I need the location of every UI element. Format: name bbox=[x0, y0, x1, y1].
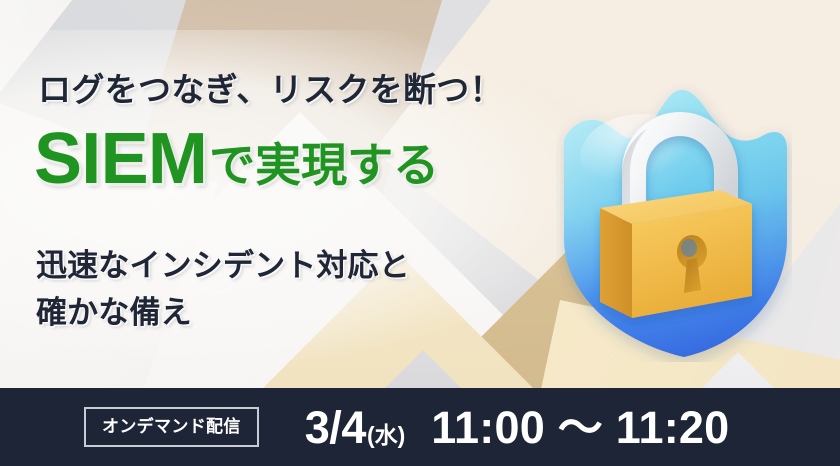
kicker-text: ログをつなぎ、リスクを断つ！ bbox=[38, 63, 503, 111]
schedule-bar: オンデマンド配信 3/4 (水) 11:00 〜 11:20 bbox=[0, 388, 840, 466]
event-dayofweek: (水) bbox=[367, 416, 405, 450]
event-time-range: 11:00 〜 11:20 bbox=[431, 405, 729, 450]
headline-tail: で実現する bbox=[209, 142, 439, 188]
page-title: SIEM で実現する bbox=[34, 123, 439, 195]
headline-highlight: SIEM bbox=[34, 123, 207, 195]
subheadline-line-1: 迅速なインシデント対応と bbox=[36, 240, 410, 285]
schedule-text: 3/4 (水) 11:00 〜 11:20 bbox=[305, 405, 730, 450]
webinar-banner: ログをつなぎ、リスクを断つ！ SIEM で実現する 迅速なインシデント対応と 確… bbox=[0, 0, 840, 466]
status-badge: オンデマンド配信 bbox=[84, 407, 259, 447]
headline-block: ログをつなぎ、リスクを断つ！ SIEM で実現する 迅速なインシデント対応と 確… bbox=[0, 0, 840, 388]
subheadline-line-2: 確かな備え bbox=[36, 287, 192, 332]
event-date: 3/4 bbox=[305, 405, 366, 450]
